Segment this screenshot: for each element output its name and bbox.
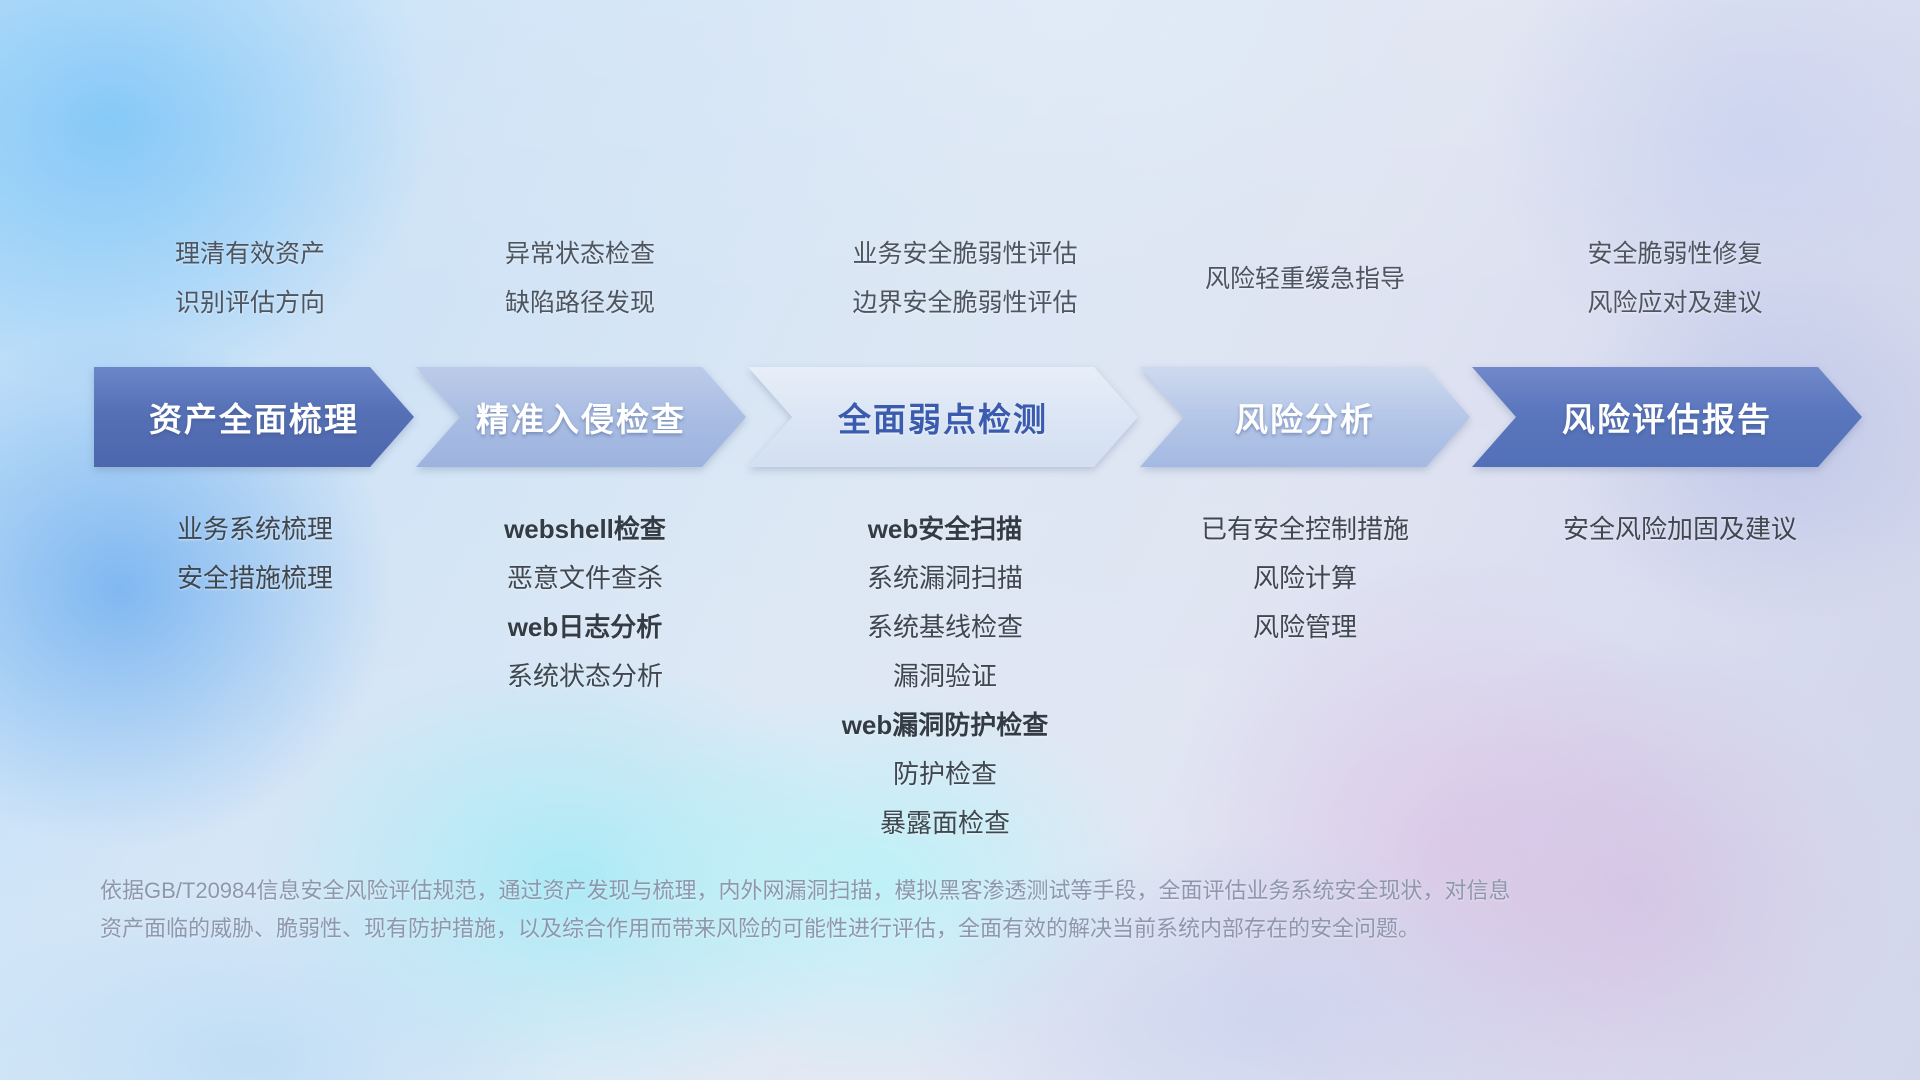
stage-outcomes-asset-inventory: 理清有效资产 识别评估方向 — [100, 230, 400, 328]
stage-arrow-assessment-report[interactable]: 风险评估报告 — [1472, 367, 1862, 467]
stage-arrow-asset-inventory[interactable]: 资产全面梳理 — [94, 367, 414, 467]
stage-tasks-assessment-report: 安全风险加固及建议 — [1490, 505, 1870, 554]
stage-tasks-asset-inventory: 业务系统梳理 安全措施梳理 — [80, 505, 430, 603]
task-item: 已有安全控制措施 — [1130, 505, 1480, 554]
stage-title: 精准入侵检查 — [476, 393, 686, 441]
stage-tasks-risk-analysis: 已有安全控制措施 风险计算 风险管理 — [1130, 505, 1480, 652]
stage-arrow-risk-analysis[interactable]: 风险分析 — [1140, 367, 1470, 467]
stage-title: 风险评估报告 — [1562, 393, 1772, 441]
stage-outcomes-risk-analysis: 风险轻重缓急指导 — [1130, 255, 1480, 304]
stage-arrow-intrusion-check[interactable]: 精准入侵检查 — [416, 367, 746, 467]
task-item: 漏洞验证 — [760, 652, 1130, 701]
stage-arrow-weakness-detection[interactable]: 全面弱点检测 — [748, 367, 1138, 467]
outcome-line: 边界安全脆弱性评估 — [790, 279, 1140, 328]
task-item: web安全扫描 — [760, 505, 1130, 554]
stage-outcomes-assessment-report: 安全脆弱性修复 风险应对及建议 — [1500, 230, 1850, 328]
outcome-line: 安全脆弱性修复 — [1500, 230, 1850, 279]
stage-title: 风险分析 — [1235, 393, 1375, 441]
stage-outcomes-weakness-detection: 业务安全脆弱性评估 边界安全脆弱性评估 — [790, 230, 1140, 328]
task-item: 系统状态分析 — [410, 652, 760, 701]
stage-tasks-intrusion-check: webshell检查 恶意文件查杀 web日志分析 系统状态分析 — [410, 505, 760, 701]
task-item: 安全措施梳理 — [80, 554, 430, 603]
task-item: 安全风险加固及建议 — [1490, 505, 1870, 554]
footer-description: 依据GB/T20984信息安全风险评估规范，通过资产发现与梳理，内外网漏洞扫描，… — [100, 872, 1800, 948]
process-diagram: 理清有效资产 识别评估方向 异常状态检查 缺陷路径发现 业务安全脆弱性评估 边界… — [0, 0, 1920, 1080]
task-item: 恶意文件查杀 — [410, 554, 760, 603]
task-item: 系统基线检查 — [760, 603, 1130, 652]
process-arrow-band: 资产全面梳理 精准入侵检查 全面弱点检测 风险分析 风险评估报告 — [0, 367, 1920, 467]
task-item: 业务系统梳理 — [80, 505, 430, 554]
task-item: 系统漏洞扫描 — [760, 554, 1130, 603]
task-item: 防护检查 — [760, 750, 1130, 799]
task-item: 暴露面检查 — [760, 799, 1130, 848]
stage-title: 资产全面梳理 — [149, 393, 359, 441]
footer-line-1: 依据GB/T20984信息安全风险评估规范，通过资产发现与梳理，内外网漏洞扫描，… — [100, 872, 1800, 910]
task-item: 风险计算 — [1130, 554, 1480, 603]
stage-title: 全面弱点检测 — [838, 393, 1048, 441]
task-item: web漏洞防护检查 — [760, 701, 1130, 750]
stage-tasks-weakness-detection: web安全扫描 系统漏洞扫描 系统基线检查 漏洞验证 web漏洞防护检查 防护检… — [760, 505, 1130, 848]
outcome-line: 风险应对及建议 — [1500, 279, 1850, 328]
outcome-line: 业务安全脆弱性评估 — [790, 230, 1140, 279]
task-item: web日志分析 — [410, 603, 760, 652]
outcome-line: 异常状态检查 — [430, 230, 730, 279]
stage-outcomes-intrusion-check: 异常状态检查 缺陷路径发现 — [430, 230, 730, 328]
outcome-line: 识别评估方向 — [100, 279, 400, 328]
outcome-line: 理清有效资产 — [100, 230, 400, 279]
task-item: webshell检查 — [410, 505, 760, 554]
outcome-line: 风险轻重缓急指导 — [1130, 255, 1480, 304]
outcome-line: 缺陷路径发现 — [430, 279, 730, 328]
footer-line-2: 资产面临的威胁、脆弱性、现有防护措施，以及综合作用而带来风险的可能性进行评估，全… — [100, 910, 1800, 948]
task-item: 风险管理 — [1130, 603, 1480, 652]
